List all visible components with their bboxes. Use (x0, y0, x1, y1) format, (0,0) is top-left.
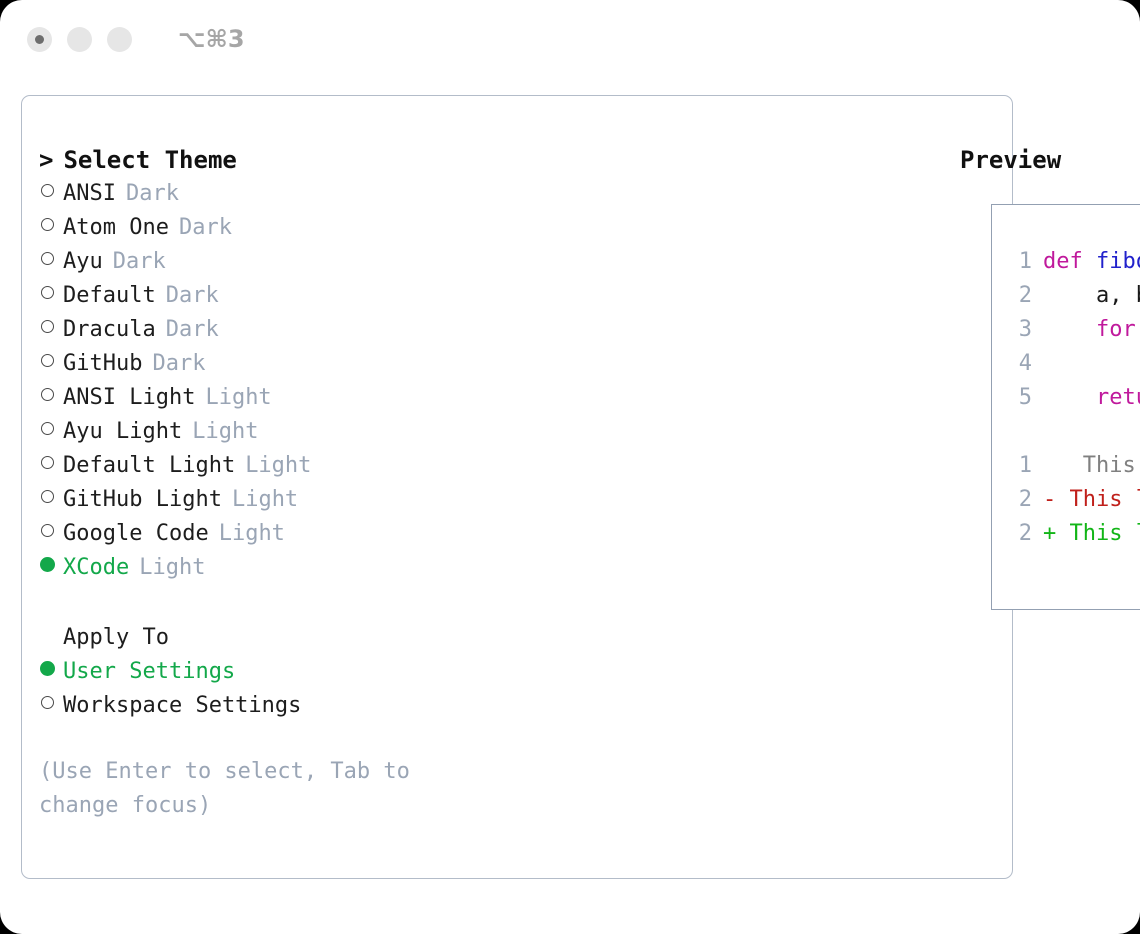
diff-line-number: 2 (1006, 517, 1032, 551)
preview-heading: Preview (960, 143, 1061, 177)
theme-option-label: Google Code (63, 517, 209, 551)
theme-variant-tag: Light (139, 551, 205, 585)
theme-option-xcode[interactable]: XCodeLight (39, 551, 502, 585)
apply-to-heading: Apply To (39, 621, 502, 655)
theme-option-label: ANSI Light (63, 381, 195, 415)
apply-to-option-label: Workspace Settings (63, 689, 301, 723)
window-dot-active[interactable] (27, 27, 52, 52)
theme-option-label: Ayu (63, 245, 103, 279)
keyboard-shortcut-label: ⌥⌘3 (178, 25, 245, 53)
diff-sign: + (1043, 517, 1056, 551)
code-line: 2 a, b = 0, 1 (1006, 279, 1140, 313)
theme-option-atom-one[interactable]: Atom OneDark (39, 211, 502, 245)
theme-option-default[interactable]: DefaultDark (39, 279, 502, 313)
code-token-txt (1043, 385, 1096, 410)
diff-line-text: This line was deleted. (1056, 483, 1140, 517)
preview-column: Preview 1def fibonacci(n):2 a, b = 0, 13… (502, 96, 1012, 878)
theme-option-label: Dracula (63, 313, 156, 347)
theme-option-github-light[interactable]: GitHub LightLight (39, 483, 502, 517)
theme-variant-tag: Light (205, 381, 271, 415)
theme-variant-tag: Dark (166, 279, 219, 313)
theme-option-ansi[interactable]: ANSIDark (39, 177, 502, 211)
code-token-txt: a, b = (1043, 283, 1140, 308)
code-token-kw: for (1096, 317, 1136, 342)
theme-option-ayu[interactable]: AyuDark (39, 245, 502, 279)
apply-to-option-label: User Settings (63, 655, 235, 689)
code-line-content: return a (1043, 381, 1140, 415)
diff-line-text: This is a context line. (1056, 449, 1140, 483)
keyboard-hint-text: (Use Enter to select, Tab to change focu… (39, 755, 439, 823)
theme-variant-tag: Light (232, 483, 298, 517)
diff-line-number: 1 (1006, 449, 1032, 483)
theme-option-label: Atom One (63, 211, 169, 245)
select-theme-heading: >Select Theme (39, 143, 502, 177)
theme-option-google-code[interactable]: Google CodeLight (39, 517, 502, 551)
window-dot-3[interactable] (107, 27, 132, 52)
diff-line-ctx: 1 This is a context line. (1006, 449, 1140, 483)
theme-variant-tag: Dark (113, 245, 166, 279)
diff-sign: - (1043, 483, 1056, 517)
window-dot-active-inner (35, 35, 44, 44)
theme-variant-tag: Light (192, 415, 258, 449)
diff-line-number: 2 (1006, 483, 1032, 517)
apply-to-option-workspace-settings[interactable]: Workspace Settings (39, 689, 502, 723)
code-blank-line (1006, 415, 1140, 449)
window-dot-2[interactable] (67, 27, 92, 52)
code-token-kw: def (1043, 249, 1096, 274)
code-token-kw: return (1096, 385, 1140, 410)
theme-option-list: ANSIDarkAtom OneDarkAyuDarkDefaultDarkDr… (39, 177, 502, 585)
code-preview-area: 1def fibonacci(n):2 a, b = 0, 13 for _ i… (992, 205, 1140, 551)
theme-option-ayu-light[interactable]: Ayu LightLight (39, 415, 502, 449)
title-bar: ⌥⌘3 (0, 0, 1140, 78)
theme-option-ansi-light[interactable]: ANSI LightLight (39, 381, 502, 415)
theme-option-label: GitHub Light (63, 483, 222, 517)
code-line-content: for _ in range(n): (1043, 313, 1140, 347)
theme-selector-column: >Select Theme ANSIDarkAtom OneDarkAyuDar… (22, 96, 502, 878)
code-line-number: 5 (1006, 381, 1032, 415)
theme-variant-tag: Dark (152, 347, 205, 381)
apply-to-option-list: User SettingsWorkspace Settings (39, 655, 502, 723)
preview-box: 1def fibonacci(n):2 a, b = 0, 13 for _ i… (991, 204, 1140, 610)
theme-variant-tag: Light (245, 449, 311, 483)
theme-option-label: Default Light (63, 449, 235, 483)
main-panel: >Select Theme ANSIDarkAtom OneDarkAyuDar… (21, 95, 1013, 879)
code-token-txt (1043, 317, 1096, 342)
diff-line-text: This line was added. (1056, 517, 1140, 551)
code-line-number: 2 (1006, 279, 1032, 313)
theme-option-dracula[interactable]: DraculaDark (39, 313, 502, 347)
code-token-txt: a, b = b, a + b (1043, 351, 1140, 376)
code-line-content: def fibonacci(n): (1043, 245, 1140, 279)
theme-variant-tag: Dark (126, 177, 179, 211)
code-token-fn: fibonacci (1096, 249, 1140, 274)
theme-option-github[interactable]: GitHubDark (39, 347, 502, 381)
diff-line-add: 2+ This line was added. (1006, 517, 1140, 551)
theme-option-label: XCode (63, 551, 129, 585)
code-line: 1def fibonacci(n): (1006, 245, 1140, 279)
theme-option-label: Default (63, 279, 156, 313)
theme-variant-tag: Dark (166, 313, 219, 347)
theme-option-default-light[interactable]: Default LightLight (39, 449, 502, 483)
code-line-content: a, b = b, a + b (1043, 347, 1140, 381)
diff-line-del: 2- This line was deleted. (1006, 483, 1140, 517)
theme-variant-tag: Dark (179, 211, 232, 245)
code-line-number: 3 (1006, 313, 1032, 347)
app-window: ⌥⌘3 >Select Theme ANSIDarkAtom OneDarkAy… (0, 0, 1140, 934)
theme-option-label: ANSI (63, 177, 116, 211)
select-theme-heading-text: Select Theme (63, 146, 236, 174)
theme-option-label: Ayu Light (63, 415, 182, 449)
code-token-txt: _ (1136, 317, 1140, 342)
code-line: 5 return a (1006, 381, 1140, 415)
theme-variant-tag: Light (219, 517, 285, 551)
code-line-number: 4 (1006, 347, 1032, 381)
theme-option-label: GitHub (63, 347, 142, 381)
apply-to-option-user-settings[interactable]: User Settings (39, 655, 502, 689)
diff-sign (1043, 449, 1056, 483)
caret-prompt-icon: > (39, 146, 53, 174)
code-line-number: 1 (1006, 245, 1032, 279)
code-line-content: a, b = 0, 1 (1043, 279, 1140, 313)
code-line: 4 a, b = b, a + b (1006, 347, 1140, 381)
code-line: 3 for _ in range(n): (1006, 313, 1140, 347)
